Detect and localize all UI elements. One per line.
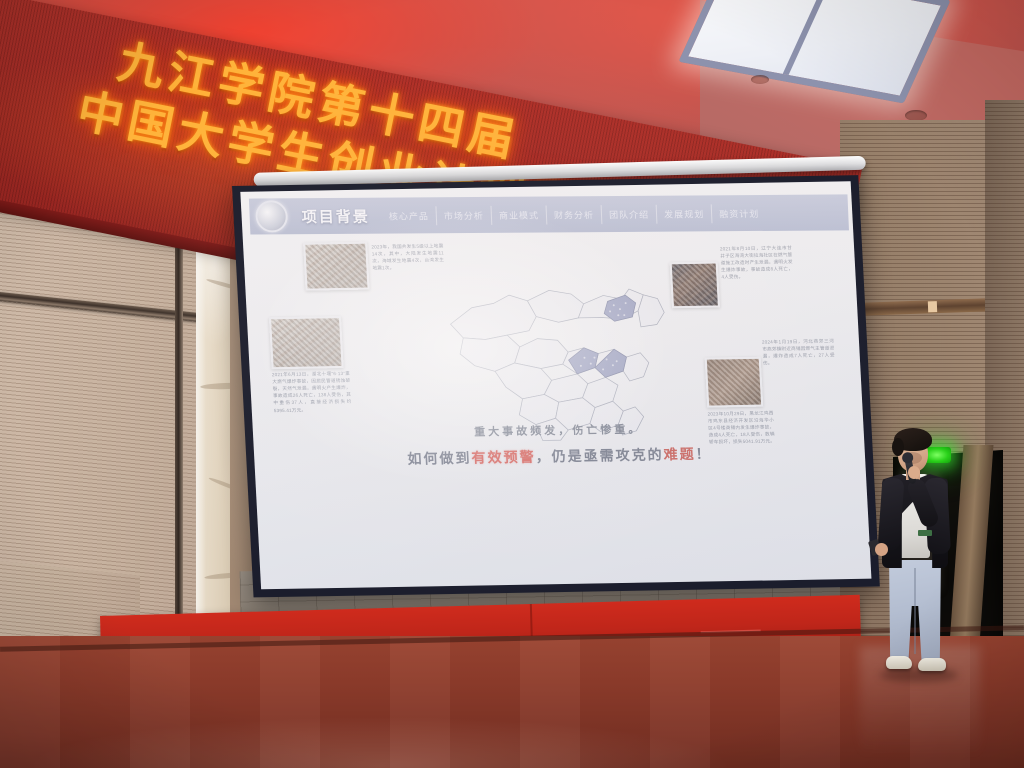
presenter [862, 418, 982, 693]
slide-section-title: 项目背景 [301, 205, 370, 226]
slide-headline: 如何做到有效预警，仍是亟需攻克的难题！ [254, 441, 865, 472]
circular-emblem-icon [255, 200, 288, 232]
stage-photo-scene: 九江学院第十四届 中国大学生创业计划竞赛决赛 项目背景 核心产品 市场分析 商业… [0, 0, 1024, 768]
slide-photo-thumbnail [269, 316, 344, 369]
presenter-shoe-right [918, 658, 946, 671]
presenter-hand-right [908, 466, 920, 479]
slide-photo-thumbnail [705, 357, 764, 408]
slide-tab: 核心产品 [381, 206, 436, 225]
ceiling-light-fixture [751, 75, 769, 84]
screen-frame: 项目背景 核心产品 市场分析 商业模式 财务分析 团队介绍 发展规划 融资计划 [232, 175, 880, 597]
presenter-hair [894, 428, 932, 451]
headline-part-c: ，仍是亟需攻克的 [535, 446, 664, 464]
slide-tab: 发展规划 [656, 204, 712, 223]
slide-tab: 市场分析 [435, 205, 491, 224]
headline-highlight-warning: 有效预警 [471, 449, 536, 466]
slide-callout-text: 2021年8月10日，辽宁大连市甘井子区海湾大街拉海社区在燃气管道施工改造时产生… [720, 244, 794, 281]
projection-screen-assembly: 项目背景 核心产品 市场分析 商业模式 财务分析 团队介绍 发展规划 融资计划 [232, 175, 880, 597]
presenter-pants-seam [914, 568, 916, 654]
slide-tab: 融资计划 [711, 203, 767, 222]
projected-slide: 项目背景 核心产品 市场分析 商业模式 财务分析 团队介绍 发展规划 融资计划 [240, 181, 871, 589]
slide-tab: 商业模式 [491, 205, 547, 224]
presenter-shoe-left [886, 656, 912, 669]
trim-fitting [928, 301, 937, 312]
slide-callout-text: 2024年1月19日，河北燕郊三河市燕郊镇附近商铺因燃气主管道泄漏，爆炸造成7人… [762, 337, 836, 367]
headline-part-e: ！ [695, 446, 712, 462]
skylight-mullion [783, 0, 830, 75]
presenter-hand-left [875, 543, 888, 556]
slide-tab-list: 核心产品 市场分析 商业模式 财务分析 团队介绍 发展规划 融资计划 [381, 203, 766, 225]
headline-highlight-problem: 难题 [663, 446, 696, 463]
headline-part-a: 如何做到 [407, 450, 472, 467]
slide-tab: 财务分析 [546, 205, 602, 224]
slide-tab: 团队介绍 [601, 204, 657, 223]
presenter-pocket-badge [918, 530, 932, 536]
slide-body: 2023年，我国共发生5级以上地震14次，其中，大陆发生地震11次，海域发生地震… [243, 225, 872, 589]
slide-callout-text: 2021年6月13日，湖北十堰“6·13”重大燃气爆炸事故，因居民管道锈蚀破裂，… [272, 370, 352, 414]
slide-photo-thumbnail [303, 242, 370, 291]
